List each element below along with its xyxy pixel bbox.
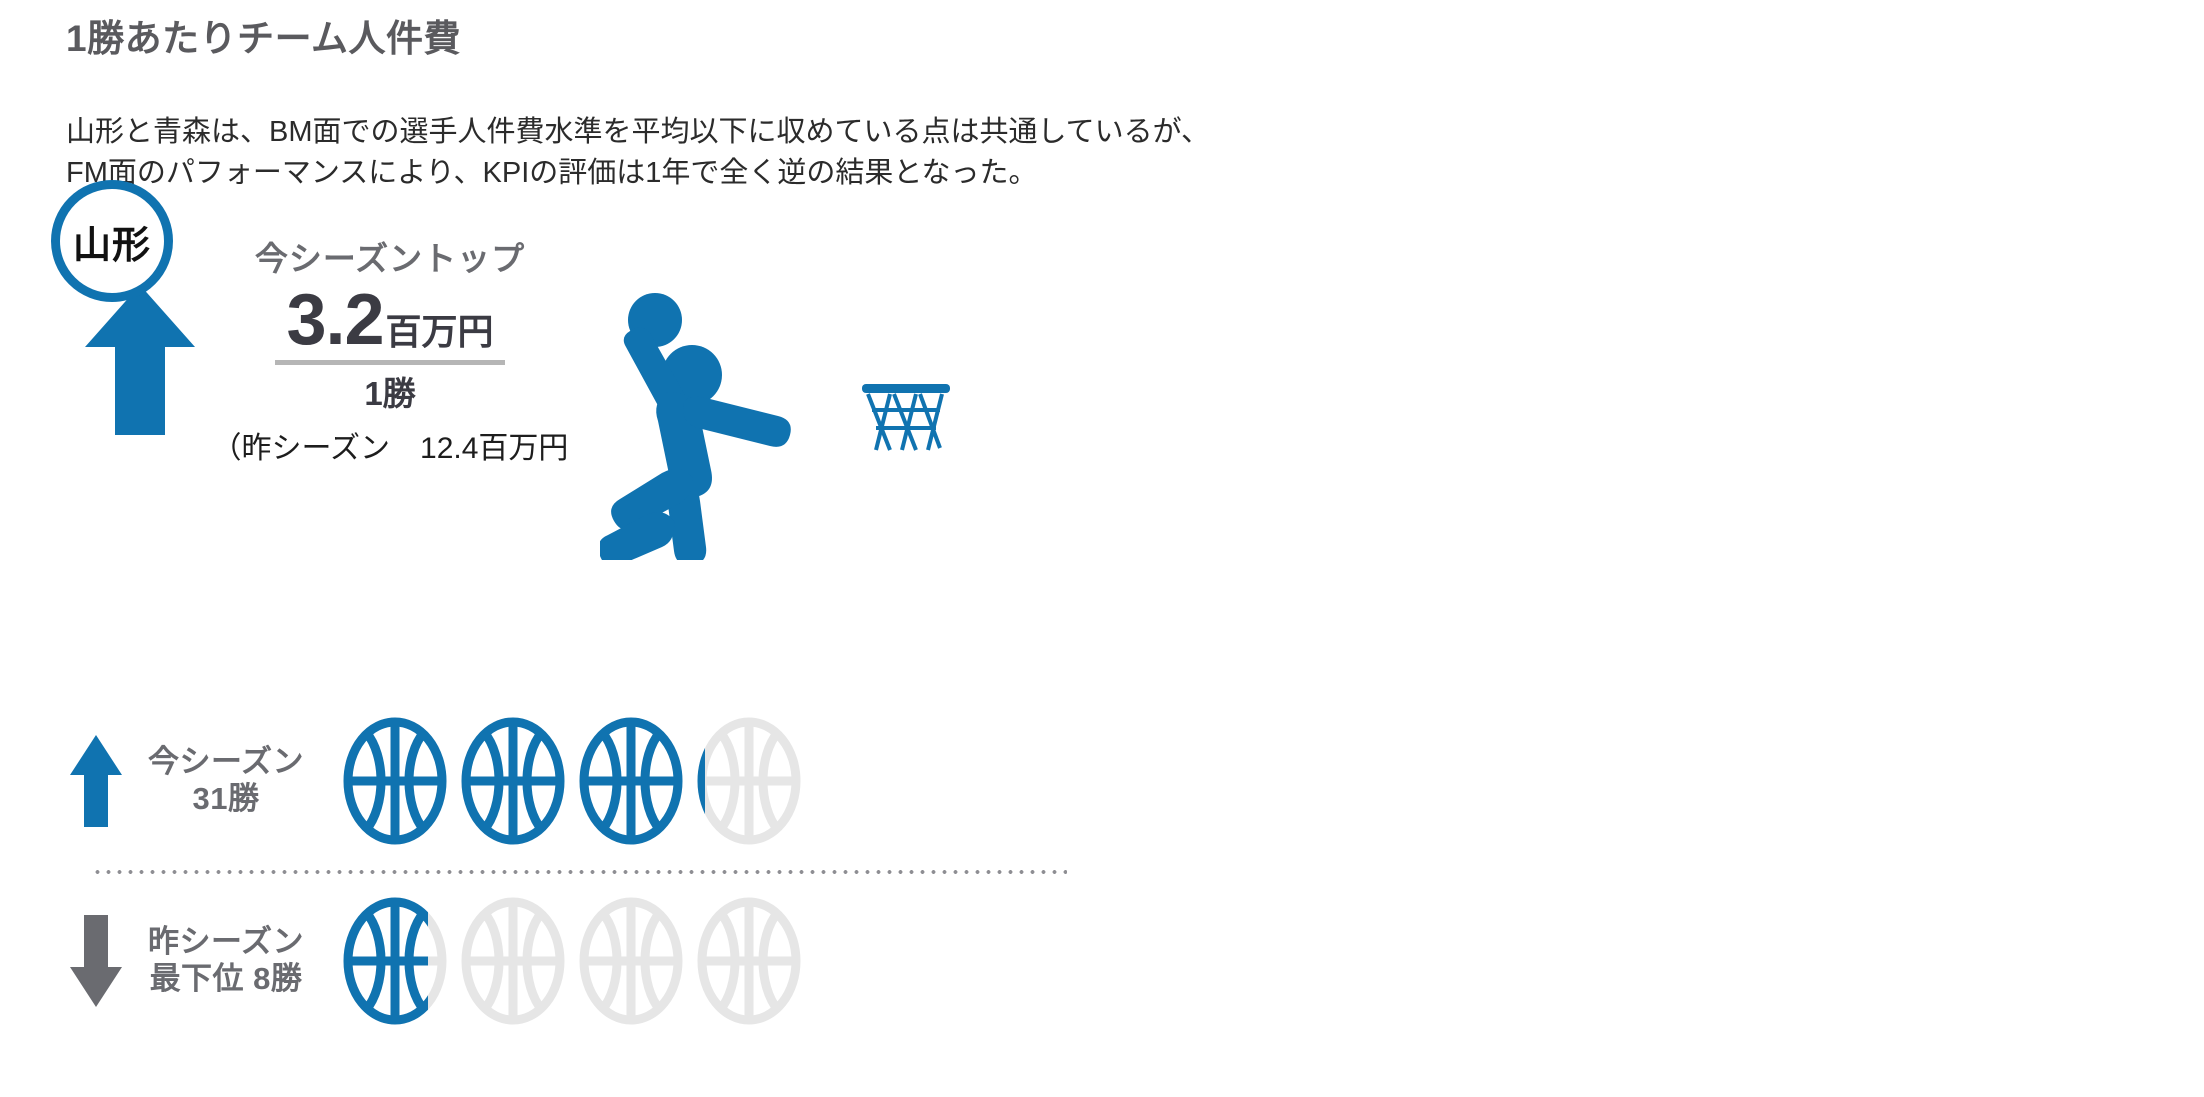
arrow-up-icon [70, 731, 122, 831]
ball-filled-layer [458, 716, 568, 846]
stat-value: 3.2 [286, 284, 383, 356]
panel-aomori: 青森 今シーズン最下位 8.4 百万円 1勝 （昨シーズン 2.9百万円 [1102, 0, 2204, 1097]
win-row-label-line-2: 最下位 8勝 [126, 961, 326, 998]
win-row-label-line-1: 昨シーズン [126, 924, 326, 961]
team-badge-yamagata: 山形 [51, 180, 173, 302]
win-row-label-line-1: 今シーズン [126, 744, 326, 781]
basketball-ball-icon [340, 896, 450, 1026]
ball-gauge [340, 896, 812, 1026]
ball-gauge [340, 716, 812, 846]
ball-filled-layer [340, 716, 450, 846]
stat-caption: 今シーズントップ [175, 232, 605, 280]
arrow-down-icon [70, 911, 122, 1011]
row-divider [92, 870, 1067, 874]
basketball-ball-icon [576, 896, 686, 1026]
basketball-ball-icon [458, 716, 568, 846]
ball-empty-layer [458, 896, 568, 1026]
win-row-previous-yamagata: 昨シーズン 最下位 8勝 [70, 886, 812, 1036]
ball-empty-layer [576, 896, 686, 1026]
ball-filled-layer [694, 716, 705, 846]
win-row-label: 昨シーズン 最下位 8勝 [126, 924, 326, 997]
stat-unit: 百万円 [386, 314, 494, 350]
ball-empty-layer [694, 716, 804, 846]
win-row-label-line-2: 31勝 [126, 781, 326, 818]
dunking-player-icon [600, 285, 830, 560]
team-badge-label: 山形 [73, 214, 151, 269]
ball-empty-layer [694, 896, 804, 1026]
basketball-ball-icon [458, 896, 568, 1026]
basketball-ball-icon [694, 716, 804, 846]
stat-block-yamagata: 今シーズントップ 3.2 百万円 1勝 （昨シーズン 12.4百万円 [175, 232, 605, 467]
basketball-ball-icon [340, 716, 450, 846]
basketball-ball-icon [694, 896, 804, 1026]
fraction-rule [275, 360, 505, 365]
win-row-label: 今シーズン 31勝 [126, 744, 326, 817]
ball-filled-layer [576, 716, 686, 846]
basketball-ball-icon [576, 716, 686, 846]
ball-filled-layer [340, 896, 428, 1026]
basketball-hoop-icon [860, 380, 952, 460]
stat-denominator: 1勝 [175, 367, 605, 415]
stat-note: （昨シーズン 12.4百万円 [175, 423, 605, 467]
win-row-current-yamagata: 今シーズン 31勝 [70, 706, 812, 856]
stat-numerator: 3.2 百万円 [175, 284, 605, 356]
panel-yamagata: 山形 今シーズントップ 3.2 百万円 1勝 （昨シーズン 12.4百万円 [0, 0, 1102, 1097]
